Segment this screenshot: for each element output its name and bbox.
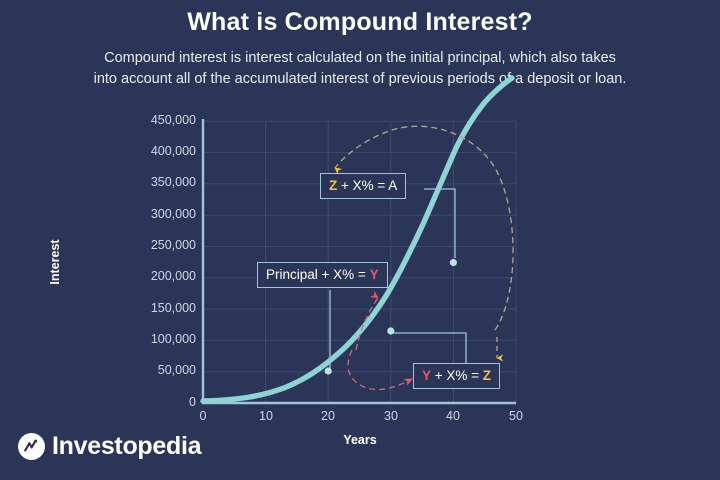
annotation-y-plus-x-equals-z: Y + X% = Z <box>413 363 500 389</box>
leader-line-y-z <box>393 333 466 366</box>
y-tick-0: 0 <box>110 395 196 409</box>
annotation-y-term-principal: Principal + X% = <box>266 267 370 282</box>
curve-marker-year-40 <box>450 259 457 266</box>
x-tick-50: 50 <box>496 409 536 423</box>
compound-interest-chart <box>0 0 720 480</box>
x-tick-20: 20 <box>308 409 348 423</box>
x-tick-40: 40 <box>433 409 473 423</box>
annotation-z-term-mid: + X% = <box>431 368 483 383</box>
y-tick-250000: 250,000 <box>110 238 196 252</box>
y-tick-150000: 150,000 <box>110 301 196 315</box>
annotation-a-term-z: Z <box>329 178 337 193</box>
annotation-principal-plus-x-equals-y: Principal + X% = Y <box>257 262 388 288</box>
annotation-z-term-z: Z <box>483 368 491 383</box>
leader-line-z-a <box>424 189 455 258</box>
y-tick-50000: 50,000 <box>110 363 196 377</box>
annotation-z-term-y: Y <box>422 368 431 383</box>
y-tick-400000: 400,000 <box>110 144 196 158</box>
annotation-z-plus-x-equals-a: Z + X% = A <box>320 173 406 199</box>
curve-marker-year-20 <box>325 367 332 374</box>
x-tick-10: 10 <box>246 409 286 423</box>
annotation-y-term-y: Y <box>370 267 379 282</box>
investopedia-logo: Investopedia <box>18 432 201 461</box>
investopedia-logo-icon <box>18 433 45 460</box>
y-tick-100000: 100,000 <box>110 332 196 346</box>
x-tick-30: 30 <box>371 409 411 423</box>
y-tick-200000: 200,000 <box>110 269 196 283</box>
annotation-a-term-rest: + X% = A <box>337 178 397 193</box>
x-tick-0: 0 <box>183 409 223 423</box>
y-tick-300000: 300,000 <box>110 207 196 221</box>
y-axis-label: Interest <box>48 202 62 322</box>
y-tick-350000: 350,000 <box>110 175 196 189</box>
logo-zigzag-glyph <box>22 437 42 457</box>
investopedia-wordmark: Investopedia <box>52 432 201 461</box>
x-axis-label: Years <box>295 433 425 447</box>
infographic-canvas: What is Compound Interest? Compound inte… <box>0 0 720 480</box>
y-tick-450000: 450,000 <box>110 113 196 127</box>
dashed-arc-red-to-z <box>348 350 412 390</box>
